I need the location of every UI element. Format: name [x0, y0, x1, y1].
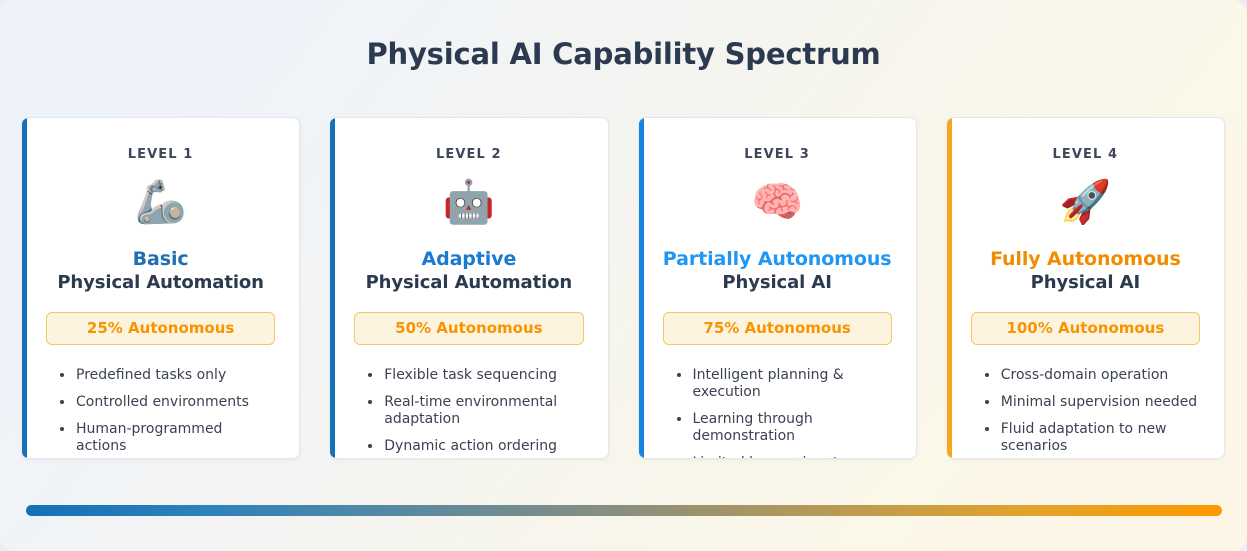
card-title-sub: Physical AI: [661, 271, 894, 295]
feature-list-item: Learning through demonstration: [677, 411, 894, 445]
card-accent-bar: [22, 118, 27, 458]
feature-list: Flexible task sequencingReal-time enviro…: [352, 367, 585, 455]
card-title-sub: Physical Automation: [352, 271, 585, 295]
feature-list-item: Controlled environments: [60, 394, 277, 411]
card-title-main: Fully Autonomous: [969, 247, 1202, 271]
autonomy-badge: 50% Autonomous: [354, 312, 583, 345]
capability-spectrum-infographic: Physical AI Capability Spectrum LEVEL 1🦾…: [0, 0, 1247, 551]
feature-list-item: Cross-domain operation: [985, 367, 1202, 384]
card-accent-bar: [330, 118, 335, 458]
feature-list-item: Real-time environmental adaptation: [368, 394, 585, 428]
rocket-emoji: 🚀: [969, 174, 1202, 230]
level-card[interactable]: LEVEL 1🦾BasicPhysical Automation25% Auto…: [22, 117, 300, 459]
mechanical-arm-emoji: 🦾: [44, 174, 277, 230]
feature-list-item: Fluid adaptation to new scenarios: [985, 421, 1202, 455]
feature-list: Cross-domain operationMinimal supervisio…: [969, 367, 1202, 455]
card-accent-bar: [947, 118, 952, 458]
feature-list-item: Limited human input required: [677, 455, 894, 459]
autonomy-badge: 25% Autonomous: [46, 312, 275, 345]
capability-spectrum-gradient-bar: [26, 505, 1222, 516]
level-cards-row: LEVEL 1🦾BasicPhysical Automation25% Auto…: [22, 117, 1225, 459]
feature-list-item: Intelligent planning & execution: [677, 367, 894, 401]
feature-list-item: Predefined tasks only: [60, 367, 277, 384]
autonomy-badge: 75% Autonomous: [663, 312, 892, 345]
level-label: LEVEL 2: [352, 118, 585, 162]
autonomy-badge: 100% Autonomous: [971, 312, 1200, 345]
feature-list-item: Flexible task sequencing: [368, 367, 585, 384]
feature-list-item: Dynamic action ordering: [368, 438, 585, 455]
robot-emoji: 🤖: [352, 174, 585, 230]
card-title-main: Basic: [44, 247, 277, 271]
card-title: Fully AutonomousPhysical AI: [969, 247, 1202, 295]
card-title-sub: Physical Automation: [44, 271, 277, 295]
feature-list: Intelligent planning & executionLearning…: [661, 367, 894, 459]
level-label: LEVEL 4: [969, 118, 1202, 162]
level-label: LEVEL 1: [44, 118, 277, 162]
page-title: Physical AI Capability Spectrum: [0, 0, 1247, 75]
card-title: BasicPhysical Automation: [44, 247, 277, 295]
feature-list: Predefined tasks onlyControlled environm…: [44, 367, 277, 455]
feature-list-item: Human-programmed actions: [60, 421, 277, 455]
level-card[interactable]: LEVEL 4🚀Fully AutonomousPhysical AI100% …: [947, 117, 1225, 459]
brain-emoji: 🧠: [661, 174, 894, 230]
card-title-main: Partially Autonomous: [661, 247, 894, 271]
card-title: Partially AutonomousPhysical AI: [661, 247, 894, 295]
card-title: AdaptivePhysical Automation: [352, 247, 585, 295]
level-card[interactable]: LEVEL 2🤖AdaptivePhysical Automation50% A…: [330, 117, 608, 459]
card-accent-bar: [639, 118, 644, 458]
level-label: LEVEL 3: [661, 118, 894, 162]
card-title-sub: Physical AI: [969, 271, 1202, 295]
feature-list-item: Minimal supervision needed: [985, 394, 1202, 411]
level-card[interactable]: LEVEL 3🧠Partially AutonomousPhysical AI7…: [639, 117, 917, 459]
card-title-main: Adaptive: [352, 247, 585, 271]
